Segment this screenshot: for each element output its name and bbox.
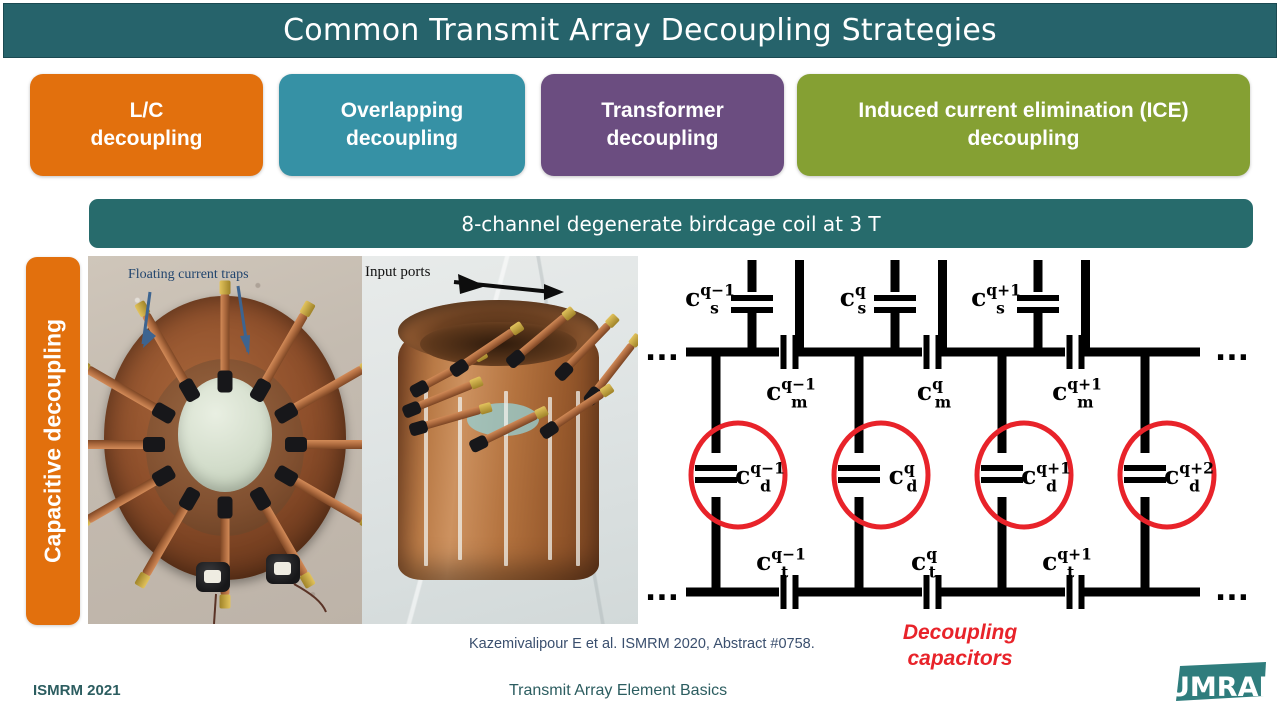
input-ports-label: Input ports bbox=[365, 264, 430, 281]
vertical-leg-lower-0 bbox=[712, 497, 721, 592]
vertical-leg-upper-3 bbox=[1141, 352, 1150, 453]
strategy-chip-lc-text: L/C decoupling bbox=[91, 97, 203, 154]
strategy-chip-transformer[interactable]: Transformer decoupling bbox=[541, 74, 784, 176]
strategy-chip-transformer-line1: Transformer bbox=[601, 99, 724, 122]
strategy-chip-overlapping-text: Overlapping decoupling bbox=[341, 97, 464, 154]
strategy-chip-ice-line1: Induced current elimination (ICE) bbox=[858, 99, 1188, 122]
copper-strip bbox=[576, 391, 580, 566]
mesh-cap-label-1: cqm bbox=[917, 375, 952, 412]
decoupling-cap-label-2: cq+1d bbox=[1021, 459, 1071, 496]
decoupling-cap-2-plate-bottom bbox=[981, 477, 1023, 483]
mesh-cap-2-plate-left bbox=[1067, 335, 1073, 369]
capacitive-decoupling-sidebar: Capacitive decoupling bbox=[26, 257, 80, 625]
series-stub-lower-1 bbox=[891, 312, 900, 352]
vertical-leg-upper-2 bbox=[998, 352, 1007, 453]
coil-connector-1 bbox=[196, 562, 230, 592]
svg-text:cq−1d: cq−1d bbox=[735, 459, 785, 496]
decoupling-capacitors-caption: Decoupling capacitors bbox=[900, 620, 1020, 673]
left-top-ellipsis: ... bbox=[645, 333, 679, 368]
vertical-leg-upper-0 bbox=[712, 352, 721, 453]
photo-birdcage-side-view: Input ports bbox=[362, 256, 638, 624]
bottom-rail-segment bbox=[686, 588, 779, 597]
right-top-ellipsis: ... bbox=[1215, 333, 1249, 368]
svg-text:cq+2d: cq+2d bbox=[1164, 459, 1214, 496]
series-cap-1-plate-bottom bbox=[874, 307, 916, 313]
copper-strip bbox=[424, 391, 428, 566]
umram-logo-text: UMRAM bbox=[1168, 672, 1270, 703]
photo-birdcage-top-view: Floating current traps bbox=[88, 256, 362, 624]
umram-logo-mark: UMRAM bbox=[1166, 660, 1270, 710]
svg-text:cq+1s: cq+1s bbox=[971, 281, 1021, 318]
series-cap-1-plate-top bbox=[874, 295, 916, 301]
series-stub-lower-2 bbox=[1034, 312, 1043, 352]
vertical-leg-lower-3 bbox=[1141, 497, 1150, 592]
decoupling-cap-2-plate-top bbox=[981, 465, 1023, 471]
series-cap-label-0: cq−1s bbox=[685, 281, 735, 318]
svg-text:cqs: cqs bbox=[840, 281, 867, 318]
page-title: Common Transmit Array Decoupling Strateg… bbox=[283, 13, 997, 48]
tuning-cap-label-1: cqt bbox=[911, 545, 937, 582]
svg-text:cqd: cqd bbox=[889, 459, 918, 496]
strategy-chip-overlapping-line2: decoupling bbox=[346, 127, 458, 150]
umram-logo: UMRAM bbox=[1166, 660, 1270, 710]
right-bottom-ellipsis: ... bbox=[1215, 573, 1249, 608]
strategy-chip-overlapping[interactable]: Overlapping decoupling bbox=[279, 74, 525, 176]
decoupling-caption-line2: capacitors bbox=[907, 647, 1012, 670]
tuning-cap-0-plate-right bbox=[793, 575, 799, 609]
svg-text:cq+1d: cq+1d bbox=[1021, 459, 1071, 496]
strategy-chip-lc-line2: decoupling bbox=[91, 127, 203, 150]
series-cap-0-plate-top bbox=[731, 295, 773, 301]
decoupling-cap-0-plate-bottom bbox=[695, 477, 737, 483]
coil-banner-label: 8-channel degenerate birdcage coil at 3 … bbox=[461, 212, 880, 236]
decoupling-cap-label-3: cq+2d bbox=[1164, 459, 1214, 496]
coil-connector-2 bbox=[266, 554, 300, 584]
series-stub-lower-0 bbox=[748, 312, 757, 352]
decoupling-caption-line1: Decoupling bbox=[903, 621, 1017, 644]
svg-text:cqt: cqt bbox=[911, 545, 937, 582]
floating-current-trap bbox=[221, 294, 230, 376]
strategy-chip-row: L/C decoupling Overlapping decoupling Tr… bbox=[0, 74, 1280, 176]
reference-caption: Kazemivalipour E et al. ISMRM 2020, Abst… bbox=[469, 636, 815, 652]
mesh-cap-2-plate-right bbox=[1079, 335, 1085, 369]
decoupling-cap-0-plate-top bbox=[695, 465, 737, 471]
strategy-chip-lc[interactable]: L/C decoupling bbox=[30, 74, 263, 176]
mesh-cap-label-2: cq+1m bbox=[1052, 375, 1102, 412]
footer-section-label: Transmit Array Element Basics bbox=[509, 682, 727, 700]
series-stub-link-0 bbox=[752, 348, 779, 357]
series-cap-2-plate-bottom bbox=[1017, 307, 1059, 313]
svg-text:cq+1m: cq+1m bbox=[1052, 375, 1102, 412]
mesh-cap-0-plate-left bbox=[781, 335, 787, 369]
strategy-chip-lc-line1: L/C bbox=[130, 99, 164, 122]
floating-current-trap bbox=[88, 440, 148, 449]
svg-text:cq−1s: cq−1s bbox=[685, 281, 735, 318]
svg-text:cqm: cqm bbox=[917, 375, 952, 412]
coil-banner: 8-channel degenerate birdcage coil at 3 … bbox=[89, 199, 1253, 248]
mesh-cap-0-plate-right bbox=[793, 335, 799, 369]
decoupling-cap-1-plate-top bbox=[838, 465, 880, 471]
strategy-chip-transformer-text: Transformer decoupling bbox=[601, 97, 724, 154]
floating-current-trap bbox=[302, 440, 362, 449]
decoupling-cap-3-plate-top bbox=[1124, 465, 1166, 471]
mesh-cap-1-plate-left bbox=[924, 335, 930, 369]
strategy-chip-ice-text: Induced current elimination (ICE) decoup… bbox=[858, 97, 1188, 154]
decoupling-cap-3-plate-bottom bbox=[1124, 477, 1166, 483]
series-stub-link-2 bbox=[1038, 348, 1065, 357]
svg-text:cq−1m: cq−1m bbox=[766, 375, 816, 412]
tuning-cap-2-plate-right bbox=[1079, 575, 1085, 609]
mesh-cap-1-plate-right bbox=[936, 335, 942, 369]
decoupling-cap-label-0: cq−1d bbox=[735, 459, 785, 496]
decoupling-cap-1-plate-bottom bbox=[838, 477, 880, 483]
footer-conference-label: ISMRM 2021 bbox=[33, 682, 121, 699]
series-cap-2-plate-top bbox=[1017, 295, 1059, 301]
vertical-leg-lower-1 bbox=[855, 497, 864, 592]
slide-title-bar: Common Transmit Array Decoupling Strateg… bbox=[3, 3, 1277, 58]
series-stub-upper-1 bbox=[891, 260, 900, 292]
tuning-cap-1-plate-right bbox=[936, 575, 942, 609]
series-cap-0-plate-bottom bbox=[731, 307, 773, 313]
vertical-leg-upper-1 bbox=[855, 352, 864, 453]
floating-current-traps-label: Floating current traps bbox=[128, 267, 249, 283]
series-stub-upper-0 bbox=[748, 260, 757, 292]
vertical-leg-lower-2 bbox=[998, 497, 1007, 592]
decoupling-circuit-diagram: cq−1mcqmcq+1mcq−1scqscq+1scq−1tcqtcq+1tc… bbox=[640, 255, 1280, 625]
strategy-chip-transformer-line2: decoupling bbox=[606, 127, 718, 150]
series-cap-label-2: cq+1s bbox=[971, 281, 1021, 318]
copper-strip bbox=[458, 397, 462, 560]
strategy-chip-ice-line2: decoupling bbox=[967, 127, 1079, 150]
series-stub-upper-2 bbox=[1034, 260, 1043, 292]
series-cap-label-1: cqs bbox=[840, 281, 867, 318]
capacitive-decoupling-label: Capacitive decoupling bbox=[40, 319, 67, 563]
copper-strip bbox=[504, 391, 508, 566]
series-stub-link-1 bbox=[895, 348, 922, 357]
strategy-chip-ice[interactable]: Induced current elimination (ICE) decoup… bbox=[797, 74, 1250, 176]
strategy-chip-overlapping-line1: Overlapping bbox=[341, 99, 464, 122]
decoupling-cap-label-1: cqd bbox=[889, 459, 918, 496]
circuit-schematic: cq−1mcqmcq+1mcq−1scqscq+1scq−1tcqtcq+1tc… bbox=[640, 255, 1280, 625]
left-bottom-ellipsis: ... bbox=[645, 573, 679, 608]
mesh-cap-label-0: cq−1m bbox=[766, 375, 816, 412]
